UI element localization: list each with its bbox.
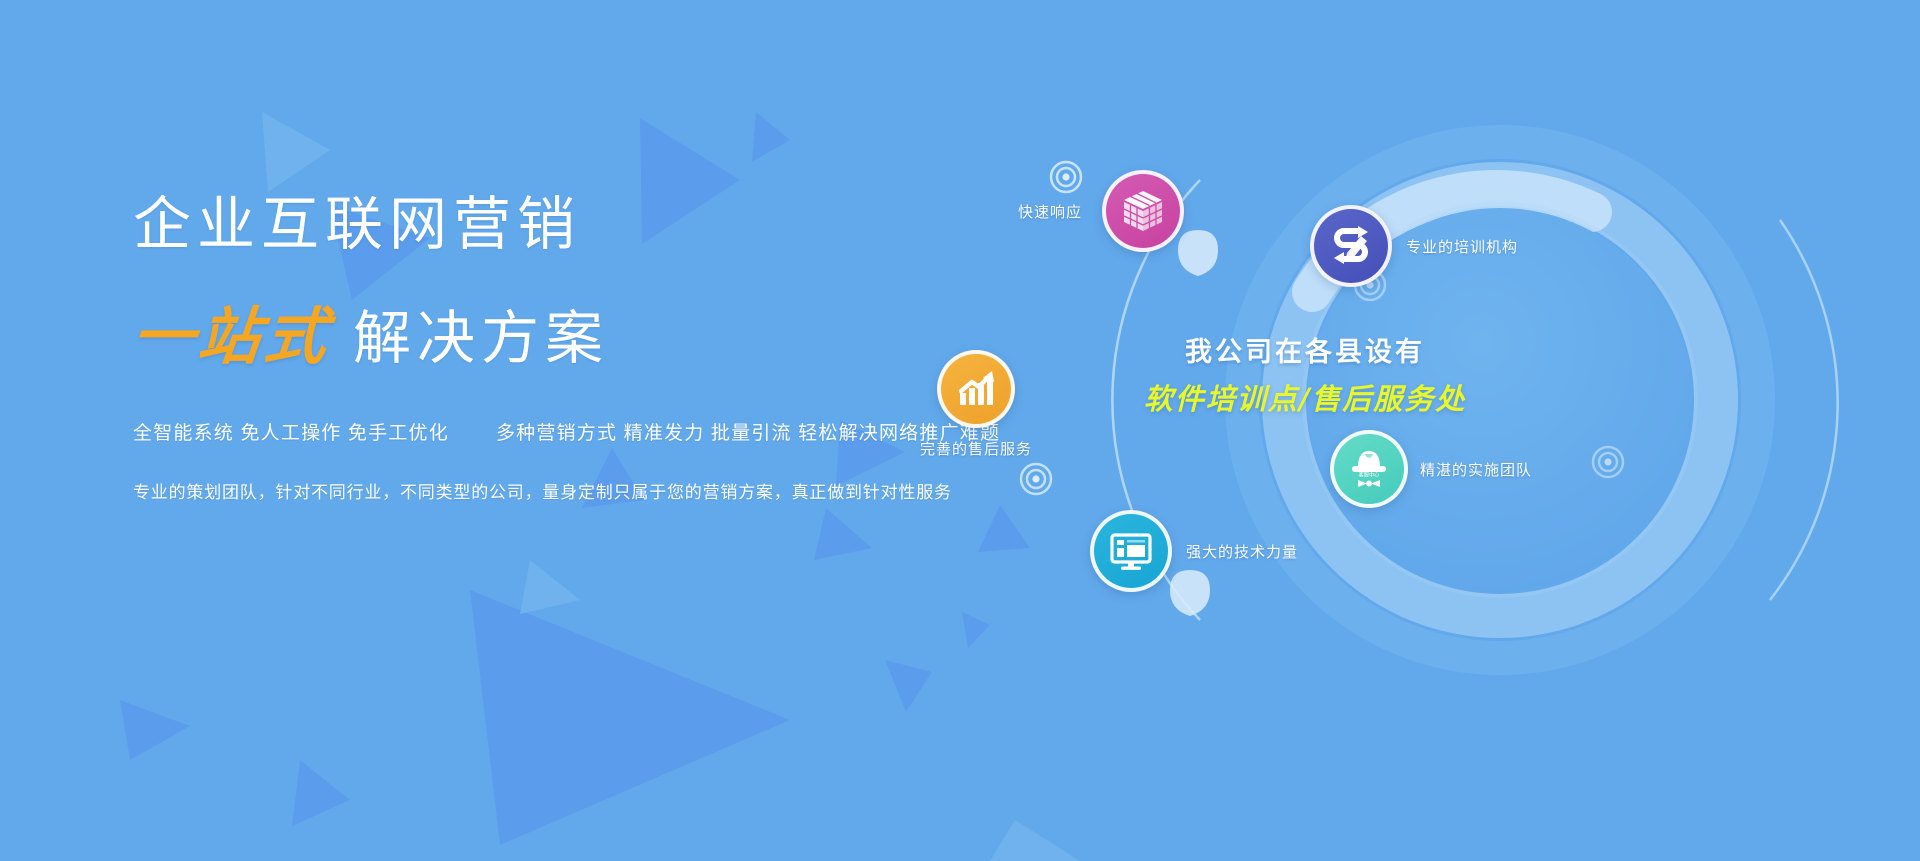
feature-node-technology[interactable]: 强大的技术力量 [1090,510,1298,592]
feature-node-after-sales[interactable]: 完善的售后服务 [920,350,1032,459]
feature-label-training: 专业的培训机构 [1406,236,1518,257]
feature-nodes: 快速响应 专业的培训机构 [1080,100,1920,780]
feature-label-technology: 强大的技术力量 [1186,541,1298,562]
feature-label-after-sales: 完善的售后服务 [920,438,1032,459]
subtitle-line-2: 专业的策划团队，针对不同行业，不同类型的公司，量身定制只属于您的营销方案，真正做… [133,478,1073,503]
subtitle-1a: 全智能系统 免人工操作 免手工优化 [133,423,449,444]
hat-bowtie-glyph: 客服中心 [1345,445,1393,493]
feature-label-implementation-team: 精湛的实施团队 [1420,459,1532,480]
marketing-banner: 企业互联网营销 一站式 解决方案 全智能系统 免人工操作 免手工优化 多种营销方… [0,0,1920,861]
center-line-2: 软件培训点/售后服务处 [1095,376,1515,418]
feature-node-fast-response[interactable]: 快速响应 [1018,170,1184,252]
s-arrow-pencil-glyph [1327,222,1375,270]
bar-chart-arrow-glyph [954,367,998,411]
s-arrow-pencil-icon [1310,205,1392,287]
monitor-glyph [1108,528,1154,574]
feature-node-implementation-team[interactable]: 客服中心 精湛的实施团队 [1330,430,1532,508]
bar-chart-arrow-icon [937,350,1015,428]
feature-node-training[interactable]: 专业的培训机构 [1310,205,1518,287]
hat-bowtie-icon: 客服中心 [1330,430,1408,508]
headline-accent: 一站式 [128,286,335,376]
headline-rest: 解决方案 [353,291,609,375]
page-title: 企业互联网营销 [133,195,1073,256]
rubik-cube-icon [1102,170,1184,252]
hat-band-text: 客服中心 [1359,470,1380,478]
center-message: 我公司在各县设有 软件培训点/售后服务处 [1095,330,1515,418]
center-line-1: 我公司在各县设有 [1095,330,1515,369]
monitor-icon [1090,510,1172,592]
feature-label-fast-response: 快速响应 [1018,201,1082,222]
rubik-cube-glyph [1120,188,1166,234]
